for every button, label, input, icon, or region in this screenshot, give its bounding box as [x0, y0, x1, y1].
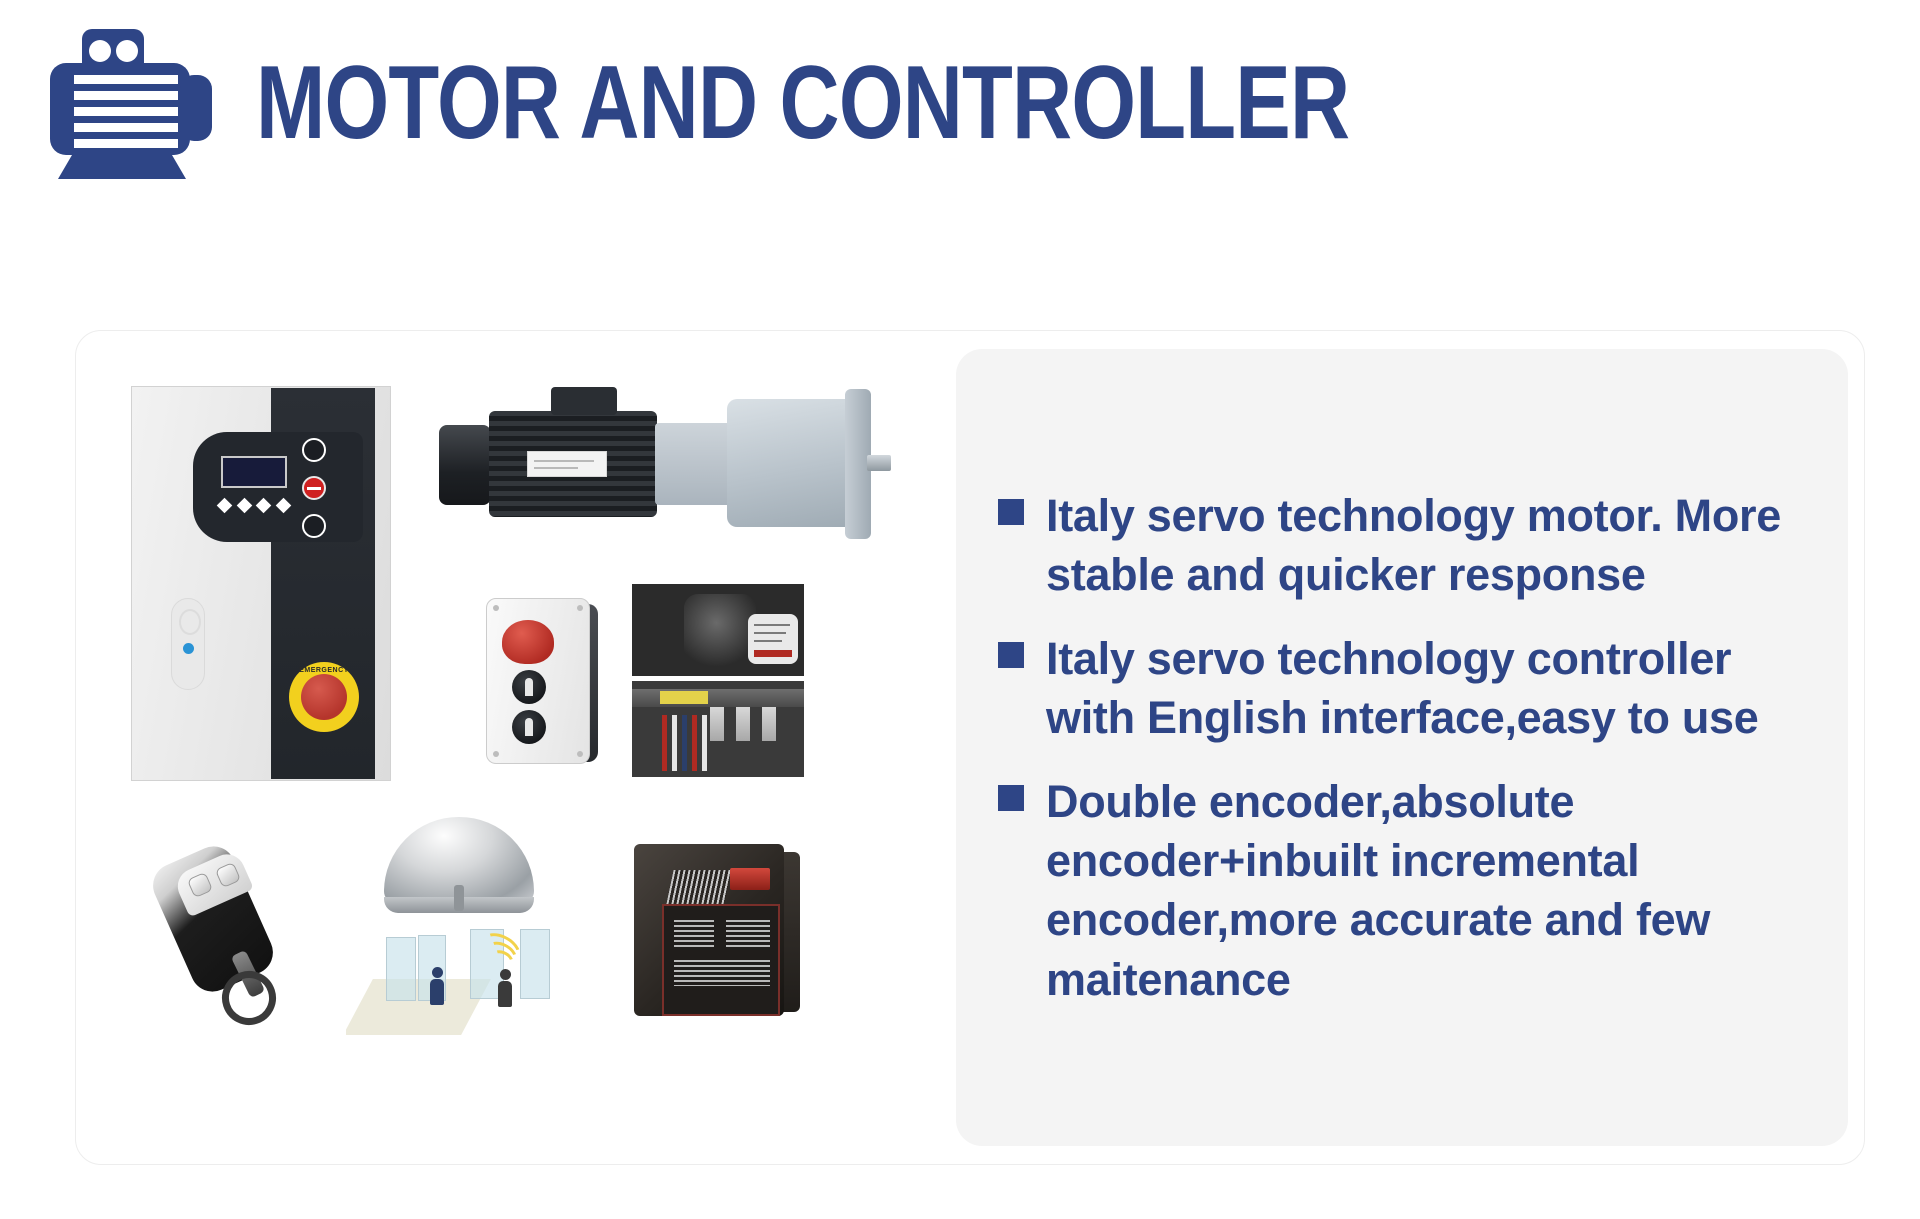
- emergency-stop-cap: [301, 674, 347, 720]
- product-photo-collage: EMERGENCY: [76, 331, 956, 1164]
- label-line: [754, 624, 790, 626]
- feature-item: Italy servo technology controller with E…: [998, 629, 1808, 748]
- key-switch-icon: [512, 710, 546, 744]
- screw-icon: [493, 751, 499, 757]
- photo-servo-gear-motor: [431, 371, 891, 551]
- screw-icon: [577, 751, 583, 757]
- photo-transformer-component: [632, 584, 804, 676]
- emergency-stop-button: EMERGENCY: [289, 662, 359, 732]
- screw-icon: [493, 605, 499, 611]
- feature-item: Double encoder,absolute encoder+inbuilt …: [998, 772, 1808, 1010]
- cabinet-round-buttons: [297, 438, 331, 538]
- page-title: MOTOR AND CONTROLLER: [256, 51, 1349, 155]
- panel-print: [674, 960, 770, 986]
- content-card: EMERGENCY: [75, 330, 1865, 1165]
- product-feature-banner: MOTOR AND CONTROLLER: [0, 0, 1920, 1219]
- wire-white: [672, 715, 677, 771]
- diamond-key-icon: [256, 497, 272, 513]
- glass-door: [386, 937, 416, 1001]
- glass-door: [520, 929, 550, 999]
- terminal-block: [736, 707, 750, 741]
- feature-text: Italy servo technology motor. More stabl…: [1046, 486, 1808, 605]
- function-button-icon: [302, 514, 326, 538]
- feature-item: Italy servo technology motor. More stabl…: [998, 486, 1808, 605]
- feature-text: Italy servo technology controller with E…: [1046, 629, 1808, 748]
- motor-junction-box: [551, 387, 617, 415]
- stop-button-icon: [302, 476, 326, 500]
- photo-push-button-station: [468, 586, 616, 776]
- wire-white: [702, 715, 707, 771]
- motor-gearbox: [727, 399, 855, 527]
- person-figure: [430, 967, 444, 1005]
- photo-dome-motion-sensor: [346, 811, 566, 1051]
- key-switch: [171, 598, 205, 690]
- module-indicator: [730, 868, 770, 890]
- diamond-key-icon: [276, 497, 292, 513]
- motor-nameplate: [527, 451, 607, 477]
- photo-terminal-wiring: [632, 681, 804, 777]
- motor-encoder: [439, 425, 491, 505]
- label-line: [754, 640, 782, 642]
- label-line: [754, 632, 786, 634]
- sensor-notch: [454, 885, 464, 911]
- person-figure: [498, 969, 512, 1007]
- panel-print: [726, 920, 770, 950]
- door-detection-illustration: [352, 923, 560, 1047]
- yellow-terminal-label: [660, 691, 708, 704]
- diamond-key-icon: [217, 497, 233, 513]
- module-body: [634, 844, 784, 1016]
- emergency-stop-mushroom: [502, 620, 554, 664]
- wire-red: [692, 715, 697, 771]
- photo-controller-module: [616, 826, 826, 1051]
- feature-list-panel: Italy servo technology motor. More stabl…: [956, 349, 1848, 1146]
- panel-print: [674, 920, 714, 950]
- photo-control-cabinet: EMERGENCY: [131, 386, 391, 781]
- keypad-buttons: [219, 498, 289, 512]
- mode-button-icon: [302, 438, 326, 462]
- terminal-block: [710, 707, 724, 741]
- terminal-block: [762, 707, 776, 741]
- photo-remote-control-fob: [136, 831, 316, 1051]
- transformer-core: [684, 594, 756, 666]
- module-front-panel: [662, 904, 780, 1016]
- screw-icon: [577, 605, 583, 611]
- emergency-label: EMERGENCY: [289, 667, 359, 674]
- brand-mark: [754, 650, 792, 657]
- module-vent: [666, 870, 731, 904]
- motor-coupling: [655, 423, 731, 505]
- bullet-square-icon: [998, 642, 1024, 668]
- wire-red: [662, 715, 667, 771]
- bullet-square-icon: [998, 499, 1024, 525]
- wire-blue: [682, 715, 687, 771]
- banner-header: MOTOR AND CONTROLLER: [40, 18, 1623, 188]
- bullet-square-icon: [998, 785, 1024, 811]
- feature-text: Double encoder,absolute encoder+inbuilt …: [1046, 772, 1808, 1010]
- lcd-display: [221, 456, 287, 488]
- key-switch-icon: [512, 670, 546, 704]
- din-rail: [632, 689, 804, 707]
- transformer-label: [748, 614, 798, 664]
- electric-motor-icon: [40, 23, 230, 183]
- diamond-key-icon: [236, 497, 252, 513]
- motor-output-shaft: [867, 455, 891, 471]
